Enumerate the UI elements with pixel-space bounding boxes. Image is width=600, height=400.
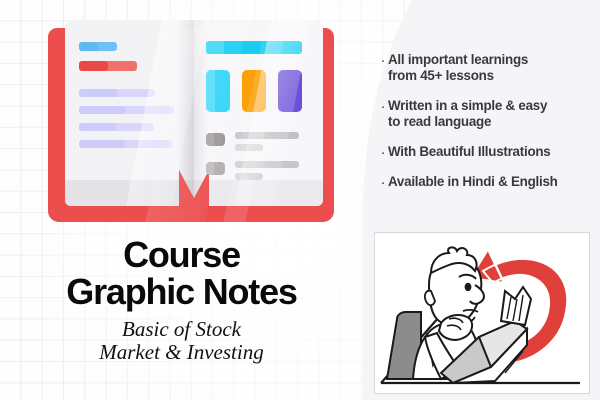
- content-bar: [79, 61, 108, 71]
- feature-text: All important learnings from 45+ lessons: [388, 52, 528, 85]
- feature-text: Available in Hindi & English: [388, 174, 558, 190]
- content-bar: [79, 89, 117, 97]
- page-title-line-2: Graphic Notes: [0, 273, 363, 310]
- page-subtitle-line-2: Market & Investing: [0, 341, 363, 364]
- list-item: · Written in a simple & easy to read lan…: [378, 98, 590, 131]
- page-subtitle-line-1: Basic of Stock: [0, 318, 363, 341]
- bullet-dot-icon: ·: [378, 174, 388, 191]
- list-item: · All important learnings from 45+ lesso…: [378, 52, 590, 85]
- content-bar: [79, 123, 116, 131]
- feature-text: With Beautiful Illustrations: [388, 144, 551, 160]
- feature-text: Written in a simple & easy to read langu…: [388, 98, 547, 131]
- poster-title-block: Course Graphic Notes Basic of Stock Mark…: [0, 236, 363, 364]
- poster-canvas: Course Graphic Notes Basic of Stock Mark…: [0, 0, 600, 400]
- feature-text-line-1: Available in Hindi & English: [388, 174, 558, 190]
- feature-text-line-1: With Beautiful Illustrations: [388, 144, 551, 160]
- thinking-man-with-book-icon: [375, 233, 589, 393]
- content-bar: [79, 42, 98, 51]
- feature-text-line-2: from 45+ lessons: [388, 68, 528, 84]
- illustration-panel: [374, 232, 590, 394]
- bullet-dot-icon: ·: [378, 144, 388, 161]
- content-bar: [79, 106, 126, 114]
- bullet-dot-icon: ·: [378, 52, 388, 69]
- feature-text-line-2: to read language: [388, 114, 547, 130]
- page-subtitle: Basic of Stock Market & Investing: [0, 318, 363, 364]
- feature-list: · All important learnings from 45+ lesso…: [378, 52, 590, 204]
- list-item: · Available in Hindi & English: [378, 174, 590, 191]
- list-item: · With Beautiful Illustrations: [378, 144, 590, 161]
- feature-text-line-1: All important learnings: [388, 52, 528, 68]
- page-title-line-1: Course: [0, 236, 363, 273]
- bullet-dot-icon: ·: [378, 98, 388, 115]
- content-bar: [79, 140, 125, 148]
- feature-text-line-1: Written in a simple & easy: [388, 98, 547, 114]
- open-book-illustration: [48, 20, 334, 222]
